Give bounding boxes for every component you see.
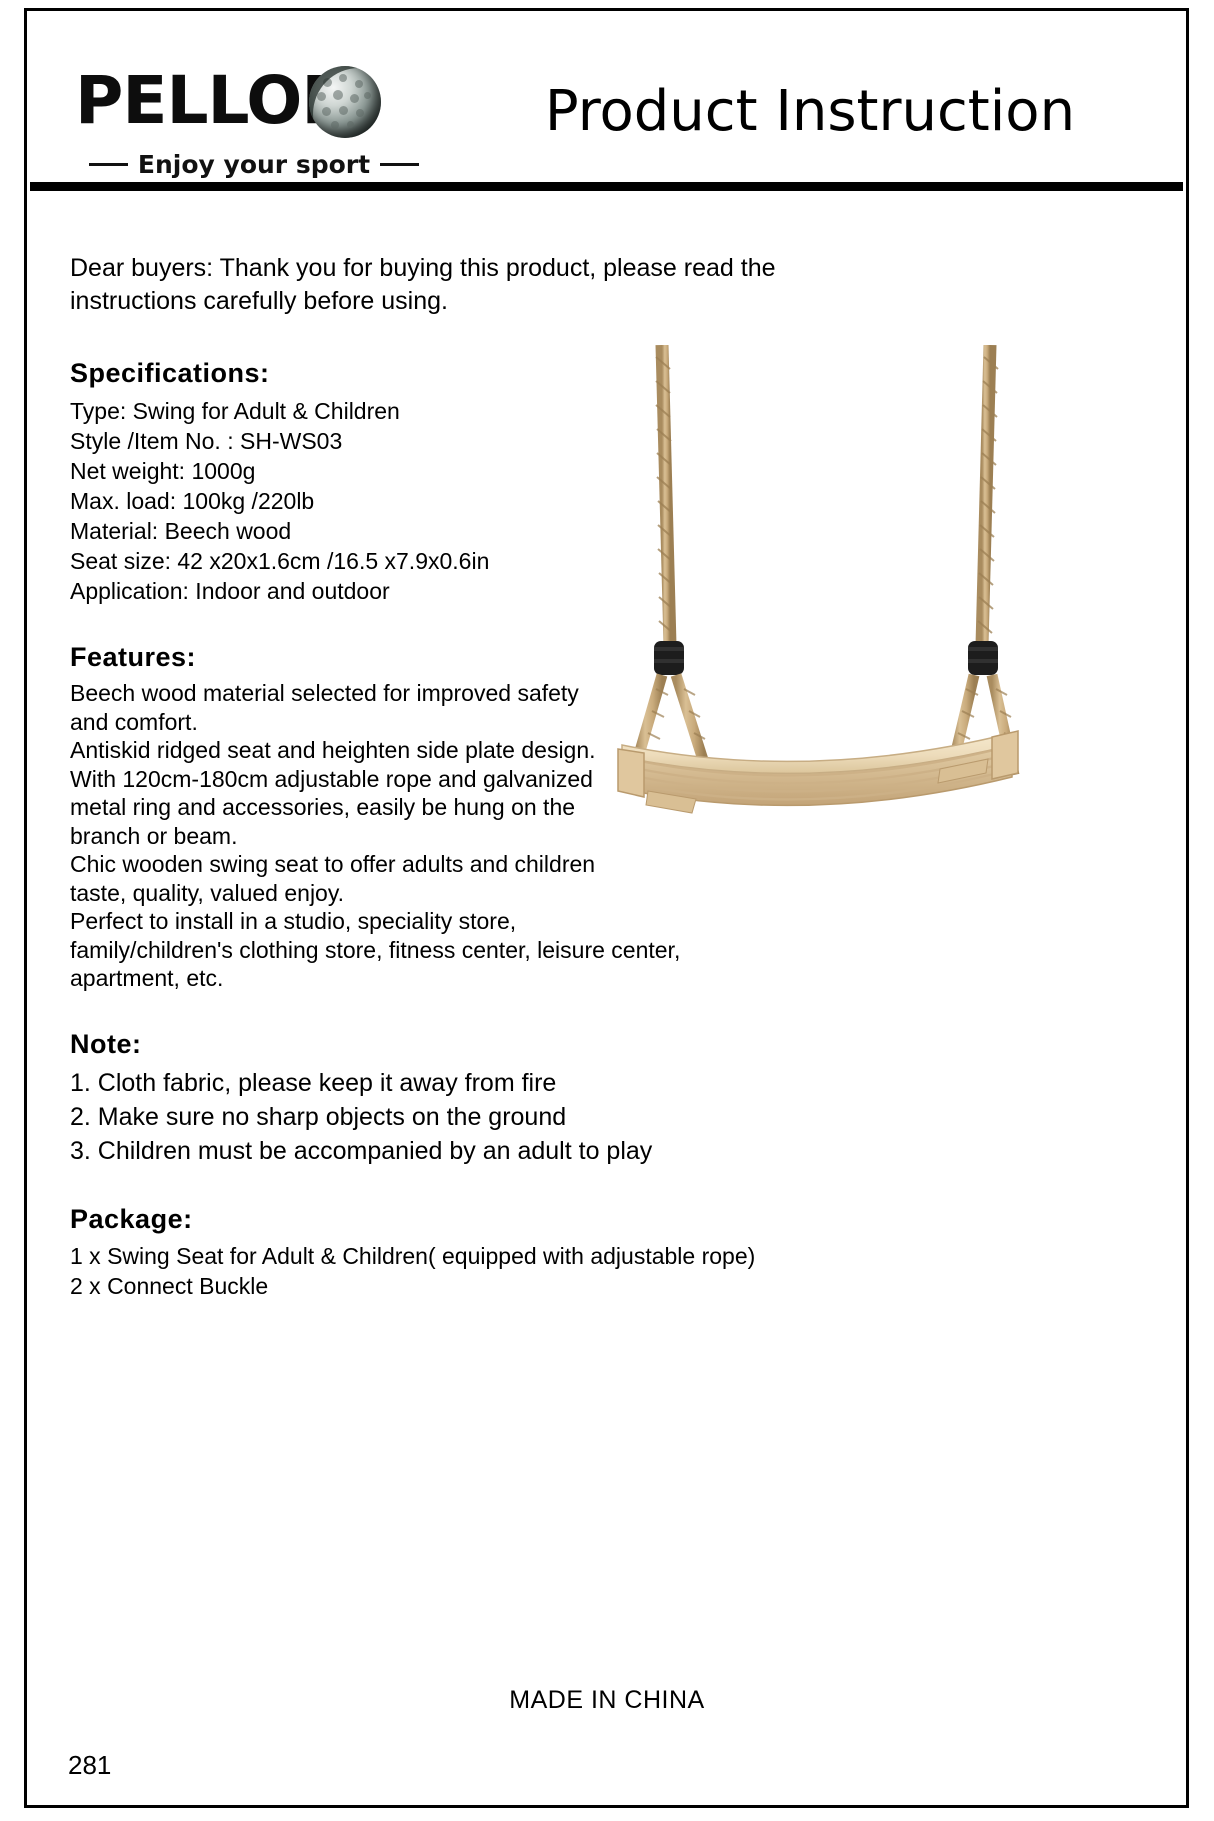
- header-divider: [30, 182, 1183, 191]
- golf-ball-icon: [309, 66, 381, 138]
- feature-line: taste, quality, valued enjoy.: [70, 879, 710, 908]
- brand-tagline: Enjoy your sport: [89, 150, 419, 179]
- brand-wordmark: PELLOR: [75, 60, 425, 142]
- package-line: 1 x Swing Seat for Adult & Children( equ…: [70, 1241, 1130, 1271]
- feature-line: With 120cm-180cm adjustable rope and gal…: [70, 765, 710, 794]
- specifications-section: Specifications: Type: Swing for Adult & …: [70, 356, 1130, 606]
- spec-line-style-item-no: Style /Item No. : SH-WS03: [70, 426, 1130, 456]
- made-in-label: MADE IN CHINA: [0, 1686, 1214, 1715]
- feature-line: metal ring and accessories, easily be hu…: [70, 793, 710, 822]
- feature-line: family/children's clothing store, fitnes…: [70, 936, 1130, 965]
- feature-line: apartment, etc.: [70, 964, 1130, 993]
- note-line: 1. Cloth fabric, please keep it away fro…: [70, 1066, 1130, 1100]
- spec-line-seat-size: Seat size: 42 x20x1.6cm /16.5 x7.9x0.6in: [70, 546, 1130, 576]
- feature-line: Chic wooden swing seat to offer adults a…: [70, 850, 710, 879]
- feature-line: Perfect to install in a studio, speciali…: [70, 907, 710, 936]
- product-instruction-page: PELLOR E: [0, 0, 1214, 1821]
- spec-line-net-weight: Net weight: 1000g: [70, 456, 1130, 486]
- page-title: Product Instruction: [460, 76, 1160, 148]
- package-heading: Package:: [70, 1202, 1130, 1236]
- note-line: 2. Make sure no sharp objects on the gro…: [70, 1100, 1130, 1134]
- note-line: 3. Children must be accompanied by an ad…: [70, 1134, 1130, 1168]
- document-body: Dear buyers: Thank you for buying this p…: [70, 252, 1130, 1335]
- feature-line: branch or beam.: [70, 822, 710, 851]
- note-section: Note: 1. Cloth fabric, please keep it aw…: [70, 1027, 1130, 1168]
- spec-line-application: Application: Indoor and outdoor: [70, 576, 1130, 606]
- specifications-heading: Specifications:: [70, 356, 1130, 390]
- feature-line: Antiskid ridged seat and heighten side p…: [70, 736, 710, 765]
- features-heading: Features:: [70, 640, 1130, 674]
- spec-line-material: Material: Beech wood: [70, 516, 1130, 546]
- brand-logo: PELLOR E: [75, 60, 465, 195]
- features-section: Features: Beech wood material selected f…: [70, 640, 1130, 993]
- page-number: 281: [68, 1750, 111, 1781]
- tagline-rule-right: [380, 163, 419, 166]
- feature-line: Beech wood material selected for improve…: [70, 679, 710, 708]
- intro-paragraph: Dear buyers: Thank you for buying this p…: [70, 252, 900, 318]
- spec-line-type: Type: Swing for Adult & Children: [70, 396, 1130, 426]
- package-section: Package: 1 x Swing Seat for Adult & Chil…: [70, 1202, 1130, 1301]
- package-line: 2 x Connect Buckle: [70, 1271, 1130, 1301]
- feature-line: and comfort.: [70, 708, 710, 737]
- page-header: PELLOR E: [30, 50, 1183, 200]
- tagline-text: Enjoy your sport: [138, 150, 370, 179]
- spec-line-max-load: Max. load: 100kg /220lb: [70, 486, 1130, 516]
- tagline-rule-left: [89, 163, 128, 166]
- note-heading: Note:: [70, 1027, 1130, 1061]
